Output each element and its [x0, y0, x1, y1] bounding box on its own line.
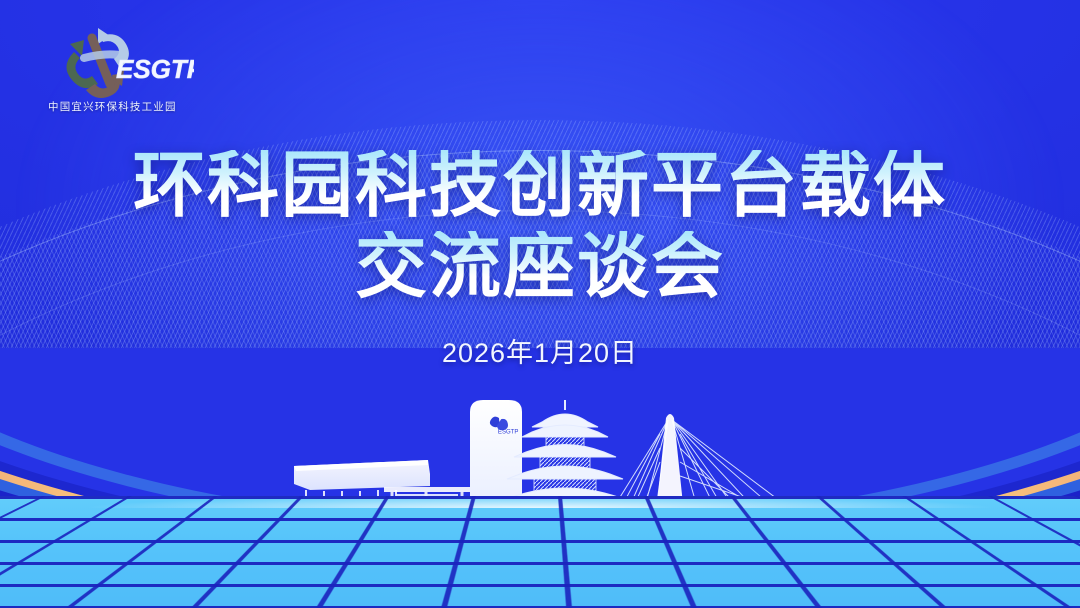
perspective-grid — [0, 496, 1080, 608]
logo-subtitle: 中国宜兴环保科技工业园 — [48, 99, 177, 114]
event-date: 2026年1月20日 — [0, 331, 1080, 370]
logo-acronym: ESGTP — [116, 54, 194, 84]
organization-logo: ESGTP 中国宜兴环保科技工业园 — [44, 22, 194, 114]
title-line-1: 环科园科技创新平台载体 — [0, 150, 1080, 223]
recycling-arrows-emblem: ESGTP — [44, 22, 194, 102]
title-block: 环科园科技创新平台载体 交流座谈会 2026年1月20日 — [0, 150, 1080, 370]
grid-vertical-lines — [0, 496, 1080, 608]
title-line-2: 交流座谈会 — [0, 231, 1080, 304]
event-banner: ESGTP — [0, 0, 1080, 608]
